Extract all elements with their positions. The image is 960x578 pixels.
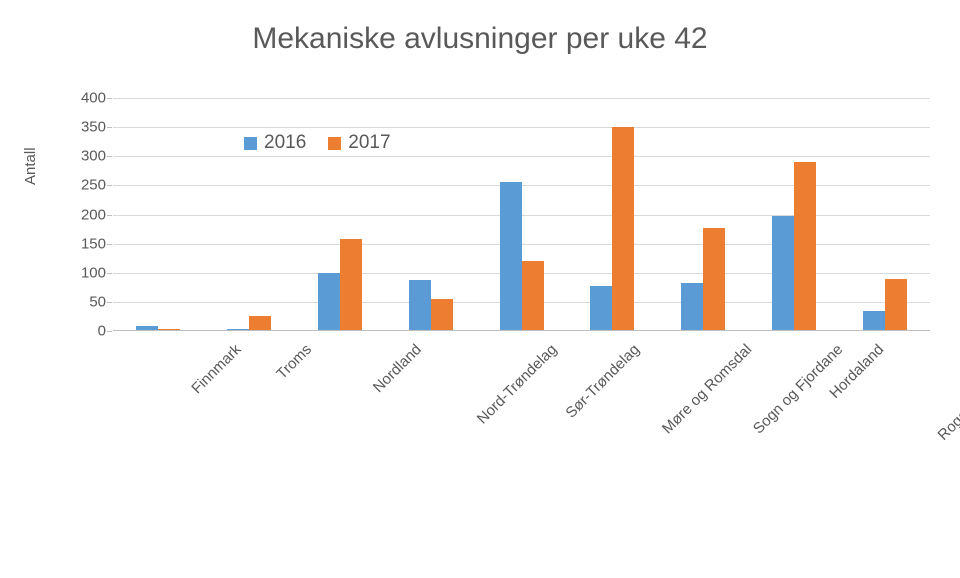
y-axis-tick-label: 50 <box>89 293 106 310</box>
y-axis-tick <box>107 127 112 128</box>
gridline <box>113 98 930 99</box>
gridline <box>113 156 930 157</box>
y-axis-tick-label: 150 <box>81 235 106 252</box>
x-axis-label-s-r-tr-ndelag: Sør-Trøndelag <box>562 341 643 422</box>
chart-title: Mekaniske avlusninger per uke 42 <box>0 22 960 56</box>
gridline <box>113 127 930 128</box>
y-axis-tick-label: 300 <box>81 148 106 165</box>
bar-2016-s-r-tr-ndelag[interactable] <box>500 182 522 331</box>
y-axis-tick-label: 0 <box>98 323 106 340</box>
y-axis-tick-labels: 400350300250200150100500 <box>70 98 106 331</box>
legend-swatch-icon-2016 <box>244 137 257 150</box>
y-axis-tick <box>107 331 112 332</box>
y-axis-tick-label: 200 <box>81 206 106 223</box>
y-axis-tick <box>107 215 112 216</box>
legend-item-2017[interactable]: 2017 <box>328 132 390 154</box>
bar-2017-sogn-og-fjordane[interactable] <box>703 228 725 331</box>
bar-2016-rogaland-og-agder[interactable] <box>863 311 885 331</box>
y-axis-tick <box>107 244 112 245</box>
bar-2017-troms[interactable] <box>249 316 271 331</box>
y-axis-tick <box>107 98 112 99</box>
bar-2017-m-re-og-romsdal[interactable] <box>612 127 634 331</box>
legend-item-2016[interactable]: 2016 <box>244 132 306 154</box>
x-axis-label-finnmark: Finnmark <box>189 341 245 397</box>
bar-2016-nord-tr-ndelag[interactable] <box>409 280 431 331</box>
bar-2017-hordaland[interactable] <box>794 162 816 331</box>
bar-2016-sogn-og-fjordane[interactable] <box>681 283 703 331</box>
y-axis-tick-label: 350 <box>81 119 106 136</box>
bar-2017-rogaland-og-agder[interactable] <box>885 279 907 331</box>
bar-2017-nord-tr-ndelag[interactable] <box>431 299 453 331</box>
chart-legend: 2016 2017 <box>244 132 391 154</box>
plot-area <box>113 98 930 331</box>
x-axis-line <box>113 330 930 331</box>
y-axis-tick <box>107 185 112 186</box>
y-axis-title: Antall <box>22 147 39 185</box>
x-axis-label-troms: Troms <box>273 341 315 383</box>
legend-swatch-icon-2017 <box>328 137 341 150</box>
bar-2016-nordland[interactable] <box>318 273 340 331</box>
y-axis-tick-label: 400 <box>81 90 106 107</box>
bar-2017-s-r-tr-ndelag[interactable] <box>522 261 544 331</box>
legend-label-2016: 2016 <box>264 132 306 154</box>
x-axis-label-m-re-og-romsdal: Møre og Romsdal <box>659 341 755 437</box>
y-axis-tick <box>107 302 112 303</box>
bar-2016-m-re-og-romsdal[interactable] <box>590 286 612 331</box>
bar-2016-hordaland[interactable] <box>772 216 794 331</box>
bar-2017-nordland[interactable] <box>340 239 362 331</box>
x-axis-label-nord-tr-ndelag: Nord-Trøndelag <box>474 341 560 427</box>
x-axis-label-nordland: Nordland <box>370 341 425 396</box>
x-axis-label-rogaland-og-agder: Rogaland og Agder <box>934 341 960 444</box>
chart-container: Mekaniske avlusninger per uke 42 Antall … <box>0 0 960 578</box>
y-axis-tick <box>107 273 112 274</box>
y-axis-tick <box>107 156 112 157</box>
legend-label-2017: 2017 <box>348 132 390 154</box>
y-axis-tick-label: 250 <box>81 177 106 194</box>
y-axis-tick-label: 100 <box>81 264 106 281</box>
